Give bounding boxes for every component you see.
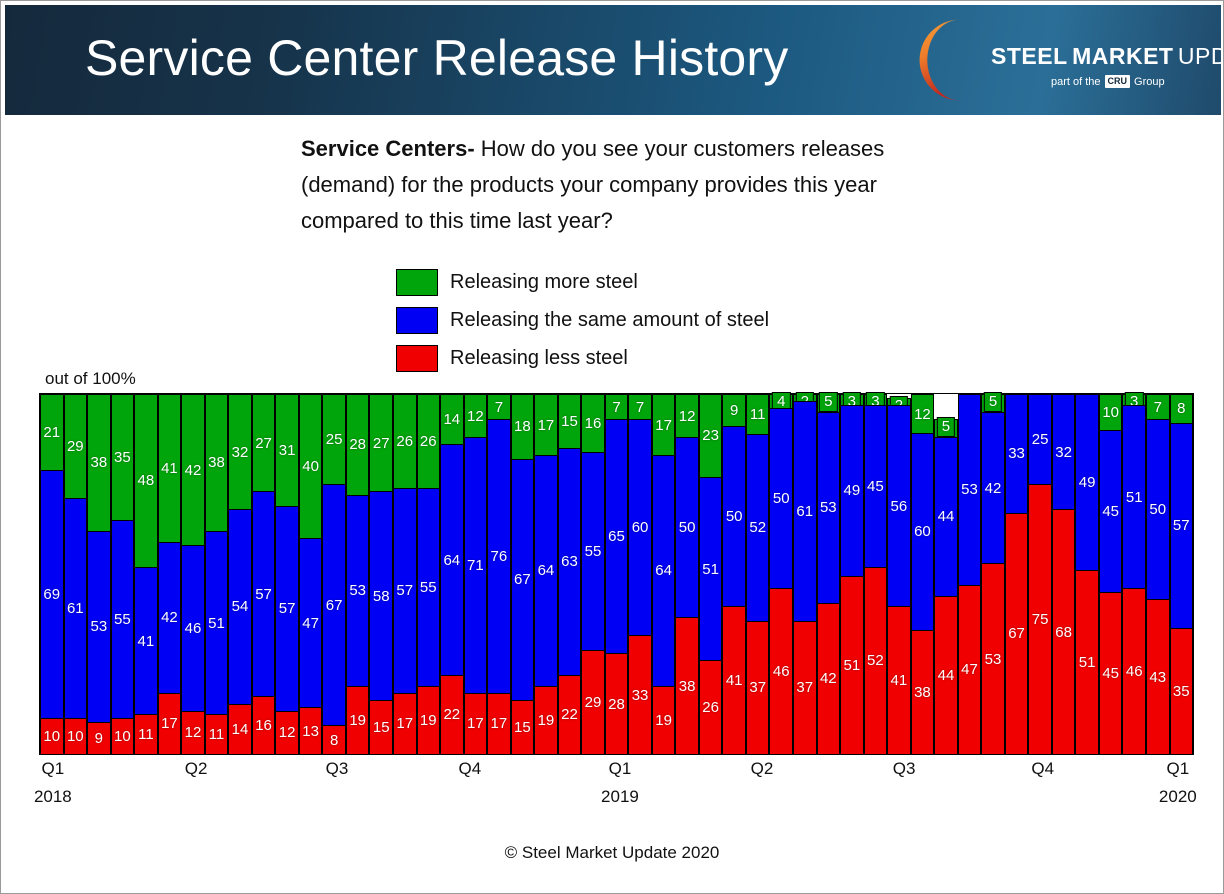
bar-value-label: 53	[985, 652, 1002, 667]
bar-value-label: 42	[820, 671, 837, 686]
bar-column: 54253	[981, 394, 1005, 754]
bar-value-label: 26	[420, 434, 437, 449]
bar-segment-blue: 45	[864, 405, 888, 567]
bar-value-label: 38	[914, 685, 931, 700]
bar-value-label: 57	[279, 601, 296, 616]
bar-segment-green: 26	[417, 394, 441, 488]
bar-segment-green: 12	[675, 394, 699, 437]
bar-value-label: 45	[1102, 504, 1119, 519]
bar-value-label: 69	[43, 587, 60, 602]
bar-segment-blue: 61	[793, 401, 817, 621]
bar-column: 126038	[911, 394, 935, 754]
bar-segment-red: 15	[369, 700, 393, 754]
bar-segment-green: 35	[111, 394, 135, 520]
bar-column: 265717	[393, 394, 417, 754]
bar-value-label: 51	[1126, 490, 1143, 505]
bar-value-label: 12	[185, 725, 202, 740]
bar-value-label: 16	[255, 718, 272, 733]
bar-segment-red: 38	[911, 630, 935, 754]
bar-segment-blue: 69	[40, 470, 64, 718]
header-banner: Service Center Release History STEEL MAR…	[5, 5, 1221, 115]
slide-page: Service Center Release History STEEL MAR…	[0, 0, 1224, 894]
legend-item-less: Releasing less steel	[396, 339, 769, 377]
legend-swatch-red	[396, 345, 438, 372]
legend-swatch-blue	[396, 307, 438, 334]
bar-segment-green: 14	[440, 394, 464, 444]
bar-value-label: 25	[326, 432, 343, 447]
bar-segment-red: 17	[487, 693, 511, 754]
bar-segment-blue: 49	[1075, 394, 1099, 570]
bar-value-label: 44	[938, 668, 955, 683]
bar-value-label: 60	[632, 520, 649, 535]
bar-segment-blue: 50	[675, 437, 699, 617]
bar-segment-blue: 46	[181, 545, 205, 711]
bar-value-label: 17	[161, 716, 178, 731]
bar-segment-green: 15	[558, 394, 582, 448]
bar-value-label: 17	[655, 418, 672, 433]
bar-value-label: 11	[209, 727, 225, 742]
legend-swatch-green	[396, 269, 438, 296]
bar-value-label: 7	[612, 400, 620, 415]
bar-segment-blue: 45	[1099, 430, 1123, 592]
bar-segment-red: 19	[534, 686, 558, 754]
bar-segment-red: 46	[769, 588, 793, 754]
bar-segment-green: 3	[1122, 394, 1146, 405]
axis-quarter-label: Q1	[1166, 759, 1189, 779]
bar-segment-green: 16	[581, 394, 605, 452]
bar-segment-red: 13	[299, 707, 323, 754]
bar-segment-green: 28	[346, 394, 370, 495]
bar-segment-red: 19	[652, 686, 676, 754]
bar-value-label: 16	[585, 416, 602, 431]
bar-column: 315712	[275, 394, 299, 754]
bar-column: 104545	[1099, 394, 1123, 754]
bar-value-label: 50	[773, 491, 790, 506]
bar-segment-red: 16	[252, 696, 276, 754]
bar-value-label: 14	[443, 412, 460, 427]
bar-segment-blue: 55	[581, 452, 605, 650]
bar-column: 156322	[558, 394, 582, 754]
legend-label-more: Releasing more steel	[450, 271, 638, 294]
bar-segment-red: 43	[1146, 599, 1170, 754]
bar-value-label: 10	[1102, 405, 1119, 420]
bar-value-label: 8	[330, 733, 338, 748]
bar-segment-blue: 64	[534, 455, 558, 685]
bar-value-label: 13	[302, 724, 319, 739]
bar-segment-red: 75	[1028, 484, 1052, 754]
bar-column: 77617	[487, 394, 511, 754]
logo-update: UPDATE	[1178, 43, 1221, 69]
bar-column: 385111	[205, 394, 229, 754]
bar-segment-blue: 53	[346, 495, 370, 686]
bar-column: 275815	[369, 394, 393, 754]
bar-segment-blue: 57	[393, 488, 417, 693]
axis-quarter-label: Q3	[326, 759, 349, 779]
bar-segment-blue: 65	[605, 419, 629, 653]
axis-quarter-label: Q2	[185, 759, 208, 779]
bar-segment-blue: 71	[464, 437, 488, 693]
bar-column: 165529	[581, 394, 605, 754]
bar-value-label: 19	[538, 713, 555, 728]
bar-value-label: 53	[349, 583, 366, 598]
bar-segment-red: 22	[440, 675, 464, 754]
stacked-bar-chart: 2169102961103853935551048411141421742461…	[39, 393, 1194, 755]
bar-segment-red: 51	[1075, 570, 1099, 754]
bar-value-label: 32	[232, 445, 249, 460]
bar-value-label: 41	[161, 461, 178, 476]
bar-segment-green: 32	[228, 394, 252, 509]
bar-column: 404713	[299, 394, 323, 754]
bar-column: 414217	[158, 394, 182, 754]
bar-segment-blue: 58	[369, 491, 393, 700]
bar-value-label: 61	[67, 601, 84, 616]
axis-quarter-label: Q2	[751, 759, 774, 779]
bar-value-label: 9	[95, 731, 103, 746]
bar-value-label: 27	[373, 436, 390, 451]
copyright-text: © Steel Market Update 2020	[1, 843, 1223, 863]
bar-segment-red: 10	[40, 718, 64, 754]
bar-value-label: 67	[514, 572, 531, 587]
bar-segment-green: 7	[487, 394, 511, 419]
bar-column: 325414	[228, 394, 252, 754]
bar-segment-red: 17	[158, 693, 182, 754]
bar-column: 235126	[699, 394, 723, 754]
bar-segment-green: 7	[1146, 394, 1170, 419]
bar-value-label: 67	[326, 598, 343, 613]
bar-column: 146422	[440, 394, 464, 754]
bar-value-label: 10	[114, 729, 131, 744]
bar-segment-red: 19	[346, 686, 370, 754]
bar-column: 34552	[864, 394, 888, 754]
question-lead: Service Centers-	[301, 136, 475, 161]
bar-segment-green: 3	[864, 394, 888, 405]
axis-quarter-label: Q4	[1031, 759, 1054, 779]
bar-segment-blue: 42	[158, 542, 182, 693]
bar-segment-blue: 44	[934, 437, 958, 595]
bar-column: 85735	[1170, 394, 1194, 754]
bar-segment-green: 5	[934, 419, 958, 437]
bar-value-label: 55	[114, 612, 131, 627]
bar-segment-green: 8	[1170, 394, 1194, 423]
bar-value-label: 31	[279, 443, 296, 458]
bar-segment-green: 41	[158, 394, 182, 542]
bar-value-label: 19	[420, 713, 437, 728]
bar-value-label: 29	[67, 439, 84, 454]
bar-value-label: 41	[138, 634, 155, 649]
bar-value-label: 55	[585, 544, 602, 559]
legend-label-same: Releasing the same amount of steel	[450, 309, 769, 332]
bar-column: 55342	[817, 394, 841, 754]
bar-column: 75043	[1146, 394, 1170, 754]
bar-segment-blue: 57	[252, 491, 276, 696]
bar-segment-green: 38	[205, 394, 229, 531]
bar-value-label: 26	[702, 700, 719, 715]
bar-value-label: 53	[961, 482, 978, 497]
bar-value-label: 38	[208, 455, 225, 470]
bar-value-label: 54	[232, 599, 249, 614]
bar-value-label: 50	[1149, 502, 1166, 517]
bar-value-label: 42	[161, 610, 178, 625]
bar-value-label: 28	[349, 437, 366, 452]
bar-column: 25678	[322, 394, 346, 754]
bar-value-label: 45	[867, 479, 884, 494]
bar-value-label: 63	[561, 554, 578, 569]
logo-wordmark: STEEL MARKET UPDATE	[991, 43, 1221, 70]
bar-segment-green: 3	[840, 394, 864, 405]
bar-column: 355510	[111, 394, 135, 754]
bar-segment-green: 12	[911, 394, 935, 433]
bar-value-label: 19	[655, 713, 672, 728]
bar-segment-blue: 67	[322, 484, 346, 725]
bar-segment-red: 44	[934, 596, 958, 754]
bar-value-label: 58	[373, 589, 390, 604]
bar-column: 25641	[887, 394, 911, 754]
bar-segment-red: 11	[134, 714, 158, 754]
bar-segment-blue: 49	[840, 405, 864, 576]
bar-segment-blue: 57	[275, 506, 299, 711]
bar-value-label: 51	[843, 658, 860, 673]
bar-value-label: 43	[1149, 670, 1166, 685]
bar-segment-green: 25	[322, 394, 346, 484]
bar-segment-red: 26	[699, 660, 723, 754]
bar-value-label: 37	[749, 680, 766, 695]
bar-column: 176419	[652, 394, 676, 754]
axis-quarter-label: Q3	[893, 759, 916, 779]
bar-value-label: 22	[561, 707, 578, 722]
bar-column: 54444	[934, 394, 958, 754]
bar-segment-blue: 55	[111, 520, 135, 718]
bar-column: 76033	[628, 394, 652, 754]
bar-column: 115237	[746, 394, 770, 754]
bar-value-label: 15	[561, 414, 578, 429]
bar-column: 216910	[40, 394, 64, 754]
bar-value-label: 46	[185, 621, 202, 636]
legend-item-same: Releasing the same amount of steel	[396, 301, 769, 339]
bar-value-label: 44	[938, 509, 955, 524]
bar-segment-blue: 25	[1028, 394, 1052, 484]
bar-value-label: 68	[1055, 625, 1072, 640]
bar-value-label: 19	[349, 713, 366, 728]
bar-column: 34951	[840, 394, 864, 754]
bar-column: 76528	[605, 394, 629, 754]
bar-segment-blue: 64	[652, 455, 676, 685]
bar-segment-blue: 57	[1170, 423, 1194, 628]
bar-value-label: 18	[514, 419, 531, 434]
bar-value-label: 57	[396, 583, 413, 598]
bar-value-label: 57	[1173, 518, 1190, 533]
logo-steel: STEEL	[991, 43, 1068, 69]
bar-segment-green: 5	[981, 394, 1005, 412]
bar-value-label: 45	[1102, 666, 1119, 681]
bar-segment-blue: 61	[64, 498, 88, 718]
bar-segment-red: 38	[675, 617, 699, 754]
bar-column: 26137	[793, 394, 817, 754]
bar-segment-blue: 50	[769, 408, 793, 588]
bar-segment-blue: 32	[1052, 394, 1076, 509]
bar-value-label: 5	[819, 392, 837, 412]
bar-value-label: 50	[726, 509, 743, 524]
bar-segment-blue: 41	[134, 567, 158, 715]
bar-value-label: 27	[255, 436, 272, 451]
bar-segment-green: 2	[793, 394, 817, 401]
bar-column: 484111	[134, 394, 158, 754]
bar-segment-red: 10	[111, 718, 135, 754]
bar-value-label: 35	[1173, 684, 1190, 699]
bar-segment-blue: 53	[87, 531, 111, 722]
bar-segment-red: 12	[275, 711, 299, 754]
bar-value-label: 15	[373, 720, 390, 735]
bar-value-label: 53	[90, 619, 107, 634]
survey-question: Service Centers- How do you see your cus…	[301, 131, 951, 239]
bar-value-label: 56	[891, 499, 908, 514]
bar-segment-blue: 52	[746, 434, 770, 621]
bar-value-label: 8	[1177, 401, 1185, 416]
bar-value-label: 76	[491, 549, 508, 564]
bar-value-label: 22	[443, 707, 460, 722]
bar-value-label: 25	[1032, 432, 1049, 447]
bar-column: 2575	[1028, 394, 1052, 754]
bar-value-label: 35	[114, 450, 131, 465]
bar-value-label: 17	[538, 418, 555, 433]
bar-value-label: 64	[443, 553, 460, 568]
cru-badge: CRU	[1105, 75, 1131, 88]
axis-year-label: 2018	[34, 787, 72, 807]
bar-segment-red: 10	[64, 718, 88, 754]
bar-column: 176419	[534, 394, 558, 754]
bar-value-label: 7	[636, 400, 644, 415]
bar-value-label: 52	[749, 520, 766, 535]
bar-segment-red: 52	[864, 567, 888, 754]
bar-value-label: 57	[255, 587, 272, 602]
bar-segment-red: 8	[322, 725, 346, 754]
bar-value-label: 40	[302, 459, 319, 474]
bar-segment-red: 28	[605, 653, 629, 754]
bar-value-label: 12	[279, 725, 296, 740]
bar-segment-red: 68	[1052, 509, 1076, 754]
bar-value-label: 75	[1032, 612, 1049, 627]
bar-value-label: 11	[138, 727, 154, 742]
bar-column: 35146	[1122, 394, 1146, 754]
axis-year-label: 2020	[1159, 787, 1197, 807]
bar-segment-green: 23	[699, 394, 723, 477]
bar-segment-red: 53	[981, 563, 1005, 754]
bar-value-label: 38	[679, 679, 696, 694]
bar-segment-green: 38	[87, 394, 111, 531]
legend-label-less: Releasing less steel	[450, 347, 628, 370]
bar-column: 5347	[958, 394, 982, 754]
bar-segment-red: 45	[1099, 592, 1123, 754]
bar-segment-blue: 53	[817, 412, 841, 603]
bar-value-label: 7	[495, 400, 503, 415]
bar-value-label: 28	[608, 697, 625, 712]
bar-segment-red: 37	[746, 621, 770, 754]
bar-segment-red: 35	[1170, 628, 1194, 754]
bar-value-label: 65	[608, 529, 625, 544]
bar-segment-red: 29	[581, 650, 605, 754]
bar-segment-red: 41	[722, 606, 746, 754]
bar-segment-green: 11	[746, 394, 770, 434]
bar-value-label: 17	[396, 716, 413, 731]
bar-segment-green: 7	[605, 394, 629, 419]
bar-value-label: 10	[43, 729, 60, 744]
bar-segment-green: 31	[275, 394, 299, 506]
bar-segment-blue: 76	[487, 419, 511, 693]
bar-segment-red: 15	[511, 700, 535, 754]
bar-segment-blue: 47	[299, 538, 323, 707]
axis-note: out of 100%	[45, 369, 136, 389]
bar-column: 285319	[346, 394, 370, 754]
bar-segment-red: 22	[558, 675, 582, 754]
bar-value-label: 21	[43, 425, 60, 440]
bar-value-label: 10	[67, 729, 84, 744]
bar-segment-blue: 33	[1005, 394, 1029, 513]
bar-value-label: 60	[914, 524, 931, 539]
bar-value-label: 11	[750, 407, 766, 422]
bar-segment-blue: 51	[205, 531, 229, 715]
bar-segment-blue: 56	[887, 405, 911, 607]
bar-value-label: 17	[467, 716, 484, 731]
page-title: Service Center Release History	[85, 29, 789, 87]
bar-segment-blue: 50	[1146, 419, 1170, 599]
bar-segment-red: 9	[87, 722, 111, 754]
bar-segment-red: 14	[228, 704, 252, 754]
bar-value-label: 5	[984, 392, 1002, 412]
bar-column: 4951	[1075, 394, 1099, 754]
bar-segment-green: 48	[134, 394, 158, 567]
axis-quarter-label: Q1	[609, 759, 632, 779]
bar-value-label: 38	[90, 455, 107, 470]
bar-column: 38539	[87, 394, 111, 754]
bar-segment-red: 12	[181, 711, 205, 754]
bar-value-label: 49	[843, 483, 860, 498]
bar-value-label: 46	[1126, 664, 1143, 679]
bar-column: 186715	[511, 394, 535, 754]
bar-value-label: 41	[891, 673, 908, 688]
bar-segment-blue: 67	[511, 459, 535, 700]
bar-segment-blue: 63	[558, 448, 582, 675]
axis-year-label: 2019	[601, 787, 639, 807]
logo-market: MARKET	[1072, 43, 1173, 69]
bar-segment-red: 41	[887, 606, 911, 754]
bar-segment-red: 17	[393, 693, 417, 754]
bar-value-label: 12	[679, 409, 696, 424]
logo-sub-suffix: Group	[1134, 76, 1165, 88]
axis-quarter-label: Q1	[42, 759, 65, 779]
bar-segment-green: 29	[64, 394, 88, 498]
bar-segment-green: 7	[628, 394, 652, 419]
bar-segment-blue: 54	[228, 509, 252, 703]
bar-value-label: 47	[302, 616, 319, 631]
bar-value-label: 7	[1154, 400, 1162, 415]
bar-segment-red: 37	[793, 621, 817, 754]
bar-column: 3268	[1052, 394, 1076, 754]
bar-value-label: 49	[1079, 475, 1096, 490]
bar-value-label: 37	[796, 680, 813, 695]
bar-value-label: 53	[820, 500, 837, 515]
bar-value-label: 12	[467, 409, 484, 424]
bar-value-label: 33	[1008, 446, 1025, 461]
bar-value-label: 29	[585, 695, 602, 710]
bar-segment-green: 17	[534, 394, 558, 455]
bar-segment-red: 11	[205, 714, 229, 754]
bar-segment-red: 51	[840, 576, 864, 754]
bar-value-label: 55	[420, 580, 437, 595]
bar-column: 275716	[252, 394, 276, 754]
bar-column: 45046	[769, 394, 793, 754]
bar-column: 265519	[417, 394, 441, 754]
bar-value-label: 67	[1008, 626, 1025, 641]
bar-value-label: 52	[867, 653, 884, 668]
